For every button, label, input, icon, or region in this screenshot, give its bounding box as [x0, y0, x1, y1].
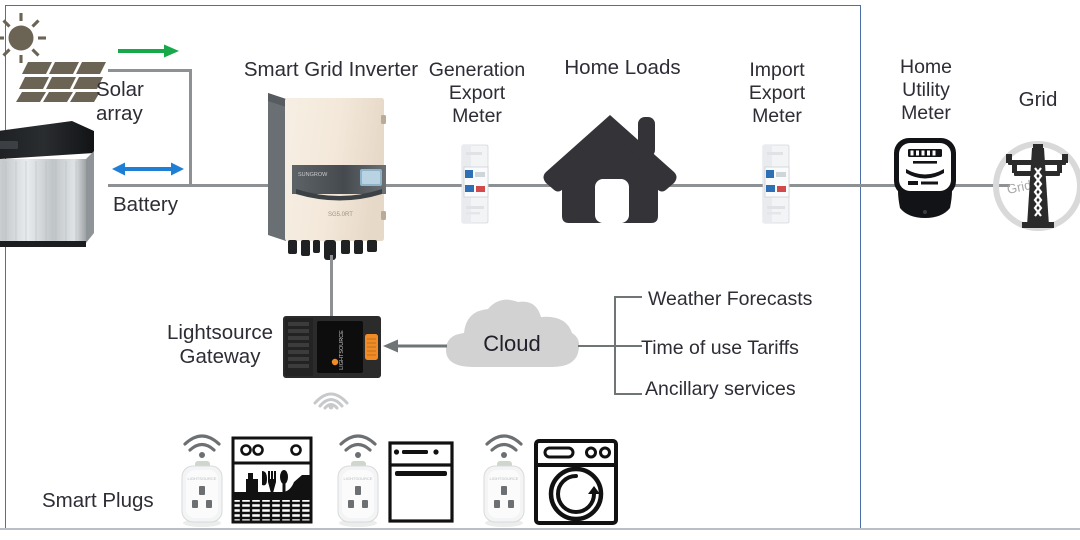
- battery-unit-icon: [0, 115, 100, 250]
- home-loads-label: Home Loads: [545, 56, 700, 80]
- smart-plug-1-icon: LIGHTSOURCE: [176, 428, 228, 528]
- battery-label: Battery: [113, 193, 223, 217]
- sun-icon: [0, 8, 56, 68]
- cloud-to-gateway-arrow: [383, 339, 447, 353]
- home-loads-icon: [548, 113, 678, 226]
- generation-export-meter-label: Generation Export Meter: [418, 59, 536, 128]
- pv-battery-riser-wire: [189, 69, 192, 186]
- bottom-divider-rule: [0, 528, 1080, 530]
- smart-grid-inverter-icon: SUNGROW SG5.0RT: [268, 85, 390, 255]
- solar-branch-wire: [108, 69, 192, 72]
- svg-text:SUNGROW: SUNGROW: [298, 172, 328, 178]
- cloud-label: Cloud: [468, 331, 556, 357]
- service-branch-weather: [614, 296, 642, 298]
- grid-watermark-text: Grid: [1006, 177, 1033, 197]
- solar-flow-arrow: [118, 43, 180, 59]
- dishwasher-icon: [388, 441, 454, 523]
- svg-text:LIGHTSOURCE: LIGHTSOURCE: [490, 476, 519, 481]
- import-export-meter-label: Import Export Meter: [718, 59, 836, 128]
- home-utility-meter-icon: [886, 136, 964, 222]
- gateway-wifi-icon: [312, 382, 350, 408]
- import-export-meter-icon: [757, 143, 797, 225]
- cloud-services-stem: [578, 345, 616, 347]
- service-branch-tariffs: [614, 345, 642, 347]
- svg-text:LIGHTSOURCE: LIGHTSOURCE: [188, 476, 217, 481]
- service-label-ancillary-services: Ancillary services: [645, 378, 875, 401]
- solar-array-label: Solar array: [96, 78, 182, 126]
- smart-grid-inverter-label: Smart Grid Inverter: [238, 58, 424, 82]
- svg-text:LIGHTSOURCE: LIGHTSOURCE: [344, 476, 373, 481]
- smart-plug-3-icon: LIGHTSOURCE: [478, 428, 530, 528]
- grid-label: Grid: [990, 88, 1080, 112]
- service-label-time-of-use-tariffs: Time of use Tariffs: [641, 337, 871, 360]
- smart-plug-2-icon: LIGHTSOURCE: [332, 428, 384, 528]
- inverter-gateway-wire: [330, 255, 333, 317]
- lightsource-gateway-label: Lightsource Gateway: [155, 321, 285, 369]
- service-label-weather-forecasts: Weather Forecasts: [648, 288, 878, 311]
- washing-machine-icon: [534, 439, 618, 525]
- grid-icon: Grid: [992, 138, 1080, 234]
- svg-text:LIGHTSOURCE: LIGHTSOURCE: [339, 330, 345, 370]
- generation-export-meter-icon: [456, 143, 496, 225]
- dishwasher-top-icon: [232, 437, 312, 523]
- service-branch-ancillary: [614, 393, 642, 395]
- battery-flow-arrow: [112, 161, 184, 177]
- battery-branch-wire: [108, 184, 192, 187]
- svg-text:SG5.0RT: SG5.0RT: [328, 212, 353, 218]
- diagram-canvas: Solar array Battery SUNGROW SG5.0RT: [0, 0, 1080, 540]
- home-utility-meter-label: Home Utility Meter: [872, 56, 980, 125]
- lightsource-gateway-icon: LIGHTSOURCE: [283, 316, 381, 378]
